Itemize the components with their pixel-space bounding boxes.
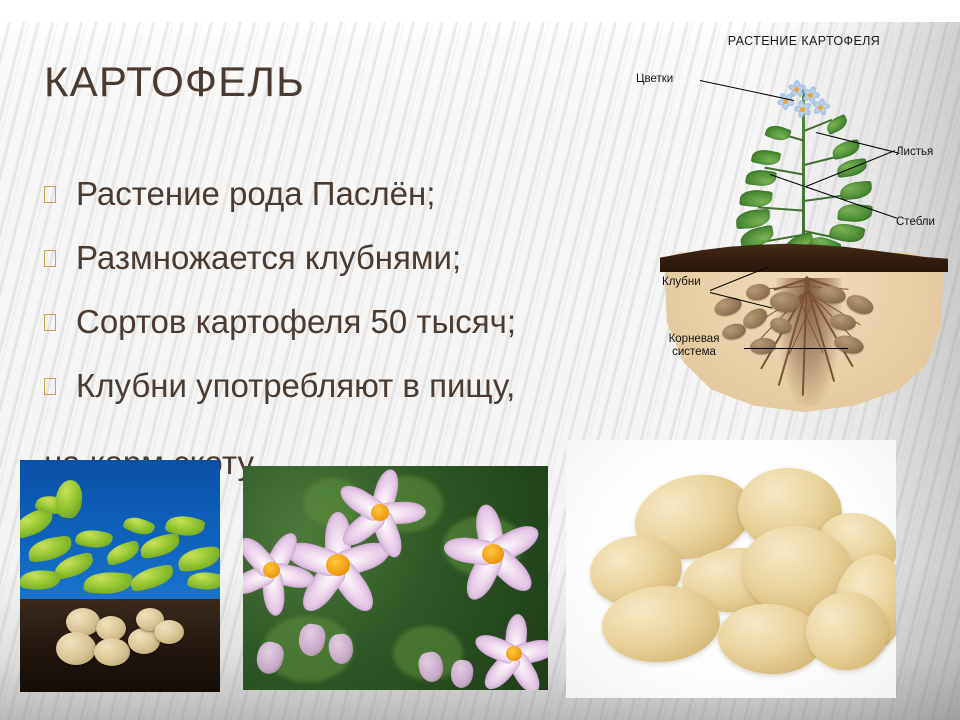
list-item: Растение рода Паслён; — [44, 172, 664, 222]
bullet-box-icon — [44, 250, 56, 267]
photo-harvested-potato-tubers — [566, 440, 896, 698]
photo-flower-icon — [331, 468, 427, 560]
diagram-flower-icon — [812, 98, 829, 115]
list-item-label: Растение рода Паслён; — [76, 172, 435, 216]
bullet-box-icon — [44, 186, 56, 203]
bullet-box-icon — [44, 314, 56, 331]
list-item-label: Сортов картофеля 50 тысяч; — [76, 300, 516, 344]
diagram-label-stems: Стебли — [896, 216, 935, 229]
bullet-list: Растение рода Паслён; Размножается клубн… — [44, 172, 664, 414]
diagram-plant-illustration — [706, 78, 906, 250]
list-item: Клубни употребляют в пищу, — [44, 364, 664, 414]
photo-flower-icon — [439, 504, 548, 608]
diagram-flower-icon — [794, 100, 811, 117]
background-top-band — [0, 0, 960, 22]
slide-title: КАРТОФЕЛЬ — [44, 58, 305, 106]
photo-potato-flowers-closeup — [243, 466, 548, 690]
diagram-leaf-icon — [745, 168, 777, 188]
diagram-leaf-icon — [764, 122, 791, 143]
leader-line-roots — [744, 348, 848, 349]
diagram-label-roots-line2: система — [648, 346, 740, 359]
potato-plant-diagram: РАСТЕНИЕ КАРТОФЕЛЯ — [648, 28, 960, 432]
bullet-box-icon — [44, 378, 56, 395]
diagram-label-roots-line1: Корневая — [648, 333, 740, 346]
diagram-topsoil — [660, 242, 948, 272]
diagram-label-flowers: Цветки — [636, 73, 673, 86]
list-item-label: Размножается клубнями; — [76, 236, 461, 280]
diagram-leaf-icon — [824, 114, 849, 135]
diagram-label-leaves: Листья — [896, 146, 933, 159]
slide-canvas: КАРТОФЕЛЬ Растение рода Паслён; Размножа… — [0, 0, 960, 720]
list-item: Размножается клубнями; — [44, 236, 664, 286]
list-item-label: Клубни употребляют в пищу, — [76, 364, 515, 408]
diagram-leaf-icon — [739, 188, 773, 208]
photo-potato-plants-in-field — [20, 460, 220, 692]
photo-flower-icon — [469, 614, 548, 690]
diagram-label-tubers: Клубни — [662, 276, 701, 289]
photo-flower-icon — [243, 528, 317, 616]
list-item: Сортов картофеля 50 тысяч; — [44, 300, 664, 350]
diagram-leaf-icon — [837, 202, 873, 223]
diagram-title: РАСТЕНИЕ КАРТОФЕЛЯ — [648, 34, 960, 48]
diagram-label-roots: Корневая система — [648, 333, 740, 359]
diagram-leaf-icon — [751, 147, 782, 167]
diagram-leaf-icon — [839, 181, 872, 201]
